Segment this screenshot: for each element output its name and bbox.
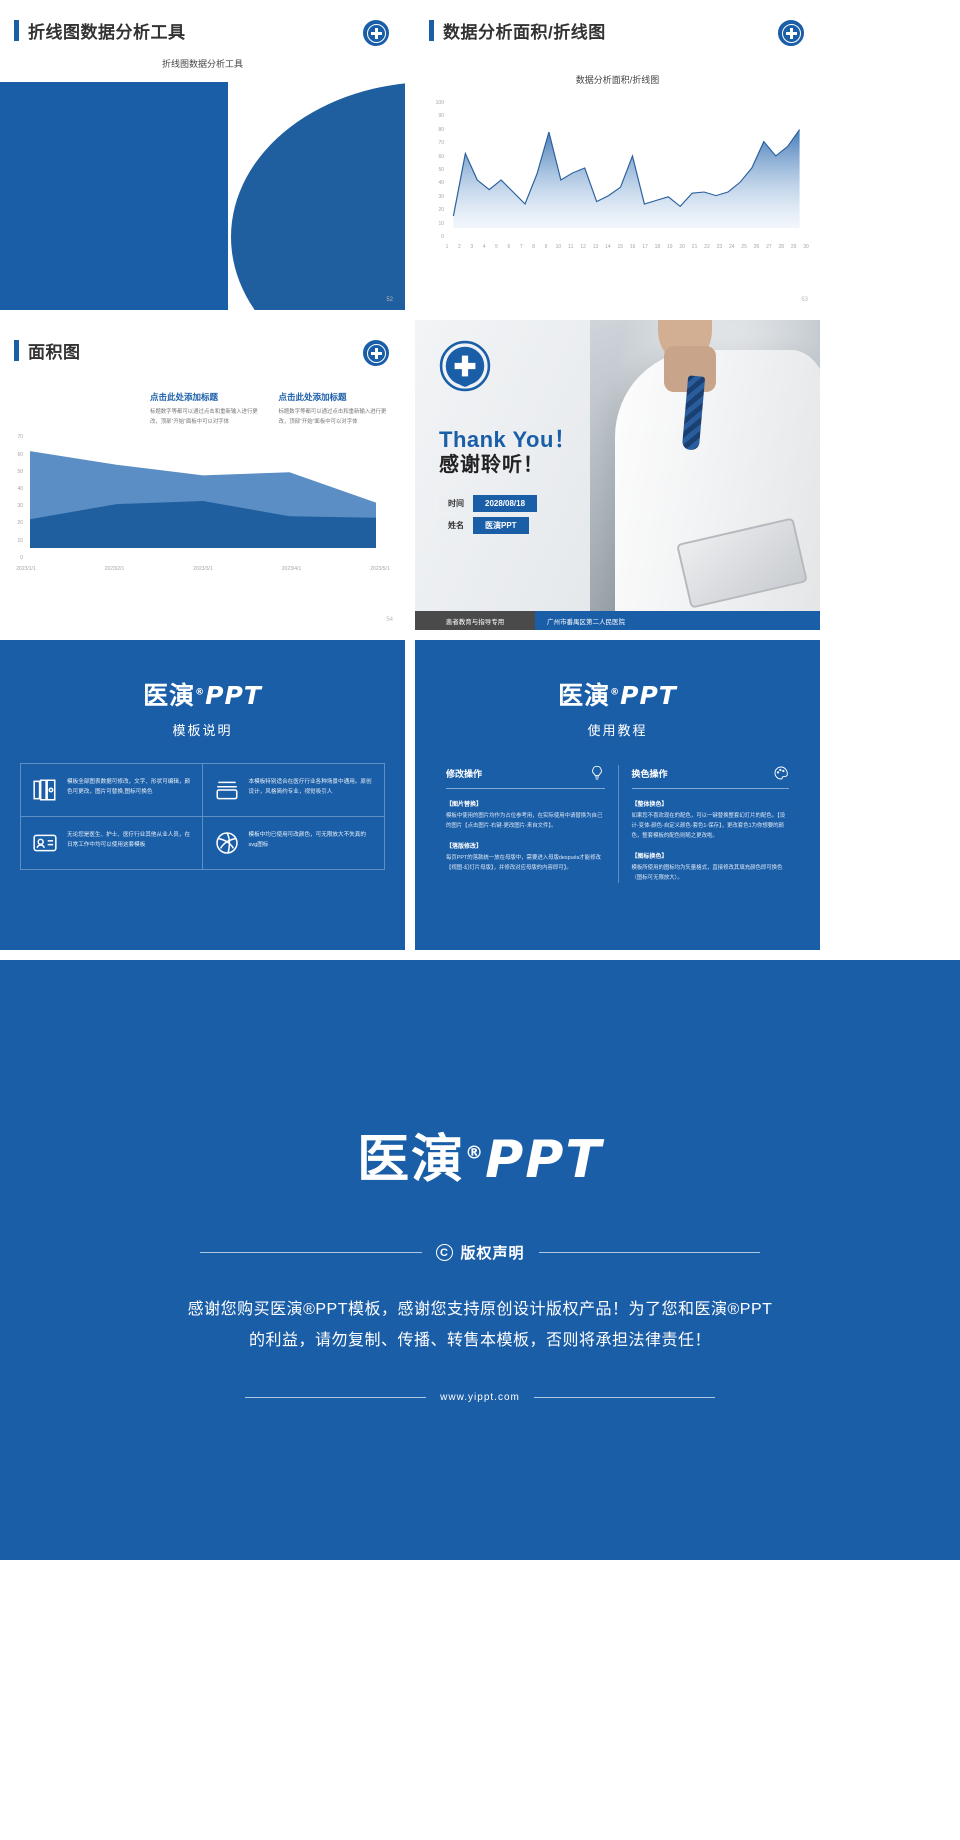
legend-dot-icon: [231, 82, 405, 310]
note-text: 无论您是医生、护士、医疗行业其他从业人员，在日常工作中均可以使用这套模板: [67, 830, 191, 856]
x-tick-label: 29: [791, 240, 797, 250]
slide-tutorial[interactable]: 医演®PPT 使用教程 修改操作 【图片替换】 模板中使用的图片均作为占位参考用…: [415, 640, 820, 950]
slide-header: 数据分析面积/折线图: [415, 0, 820, 43]
callout-heading: 点击此处添加标题: [279, 391, 392, 403]
block-title: 【落版修改】: [446, 841, 605, 850]
slide-thank-you[interactable]: Thank You！ 感谢聆听！ 时间 2028/08/18 姓名 医演PPT …: [415, 320, 820, 630]
area-line-svg: [447, 100, 806, 240]
y-tick-label: 70: [438, 140, 447, 146]
note-text: 本模板特别适合在医疗行业各种场景中通用。原创设计，风格简约专业，视觉吸引人: [249, 777, 374, 803]
x-tick-label: 26: [754, 240, 760, 250]
ppt-preview-page: 折线图数据分析工具 折线图数据分析工具 Series 1 Series 2: [0, 0, 960, 1560]
legend-dash-icon: [0, 82, 228, 310]
tutorial-block: 【图标换色】 模板所使用的图标均为矢量格式，直接修改其填充颜色即可换色（图标可无…: [632, 851, 790, 883]
block-title: 【图片替换】: [446, 799, 605, 808]
block-body: 模板所使用的图标均为矢量格式，直接修改其填充颜色即可换色（图标可无限放大）。: [632, 863, 790, 883]
x-tick-label: 4: [483, 240, 486, 250]
page-title: 面积图: [28, 338, 81, 363]
brand-logo: 医演®PPT: [415, 676, 820, 712]
x-tick-label: 5: [495, 240, 498, 250]
slide-row-1: 折线图数据分析工具 折线图数据分析工具 Series 1 Series 2: [0, 0, 960, 320]
y-tick-label: 90: [438, 113, 447, 119]
footer-department: 患者教育与指导专用: [415, 611, 535, 630]
x-tick-label: 9: [545, 240, 548, 250]
page-title: 数据分析面积/折线图: [443, 18, 606, 43]
x-tick-label: 15: [618, 240, 624, 250]
callout-body: 标题数字等都可以通过点击和重新输入进行更改，顶部“开始”面板中可以对字体: [150, 407, 263, 428]
x-tick-label: 21: [692, 240, 698, 250]
id-card-icon: [32, 830, 58, 856]
brand-ppt: PPT: [205, 681, 262, 710]
y-tick-label: 70: [17, 434, 26, 440]
bulb-icon: [589, 765, 605, 781]
field-value: 2028/08/18: [473, 495, 537, 512]
y-tick-label: 20: [17, 520, 26, 526]
brand-registered-mark: ®: [610, 688, 620, 698]
x-tick-label: 2: [458, 240, 461, 250]
field-label: 姓名: [439, 517, 473, 534]
page-title: 折线图数据分析工具: [28, 18, 186, 43]
brand-logo: 医演®PPT: [0, 676, 405, 712]
slide-page-number: 54: [386, 617, 393, 623]
y-tick-label: 80: [438, 127, 447, 133]
x-tick-label: 2023/4/1: [282, 562, 301, 572]
y-tick-label: 30: [438, 194, 447, 200]
x-tick-label: 28: [778, 240, 784, 250]
tutorial-columns: 修改操作 【图片替换】 模板中使用的图片均作为占位参考用，在实际使用中请替换为自…: [433, 765, 802, 883]
notes-grid: 模板全部图表数据可修改，文字、形状可编辑，颜色可更改，图片可替换,图标可换色 本…: [20, 763, 385, 870]
tutorial-block: 【整体换色】 如果您不喜欢现在的配色，可以一键替换整套幻灯片的配色。【设计-变体…: [632, 799, 790, 841]
block-title: 【整体换色】: [632, 799, 790, 808]
block-body: 模板中使用的图片均作为占位参考用，在实际使用中请替换为自己的图片【点击图片-右键…: [446, 811, 605, 831]
note-cell: 模板全部图表数据可修改，文字、形状可编辑，颜色可更改，图片可替换,图标可换色: [21, 764, 203, 817]
slide-header: 折线图数据分析工具: [0, 0, 405, 43]
slide-page-number: 52: [386, 297, 393, 303]
column-header: 修改操作: [446, 765, 605, 789]
brand-registered-mark: ®: [465, 1143, 485, 1164]
y-tick-label: 60: [17, 452, 26, 458]
divider-line: [539, 1252, 761, 1253]
callout-heading: 点击此处添加标题: [150, 391, 263, 403]
callout-body: 标题数字等都可以通过点击和重新输入进行更改，顶部“开始”面板中可以对字体: [279, 407, 392, 428]
x-tick-label: 13: [593, 240, 599, 250]
tutorial-block: 【落版修改】 每页PPT的落款统一放在母版中，需要进入母版después才能修改…: [446, 841, 605, 873]
x-tick-label: 2023/3/1: [193, 562, 212, 572]
slide-footer: 患者教育与指导专用 广州市番禺区第二人民医院: [415, 611, 820, 630]
x-tick-label: 16: [630, 240, 636, 250]
tutorial-block: 【图片替换】 模板中使用的图片均作为占位参考用，在实际使用中请替换为自己的图片【…: [446, 799, 605, 831]
y-tick-label: 20: [438, 207, 447, 213]
x-tick-label: 11: [568, 240, 573, 250]
title-accent-bar: [14, 20, 19, 41]
slide-copyright[interactable]: 医演®PPT C 版权声明 感谢您购买医演®PPT模板，感谢您支持原创设计版权产…: [0, 960, 960, 1560]
hospital-logo-icon: [363, 20, 389, 46]
brand-block: 医演®PPT 模板说明: [0, 640, 405, 739]
slide-area-chart[interactable]: 面积图 点击此处添加标题 标题数字等都可以通过点击和重新输入进行更改，顶部“开始…: [0, 320, 405, 630]
copyright-paragraph: 感谢您购买医演®PPT模板，感谢您支持原创设计版权产品！为了您和医演®PPT的利…: [180, 1295, 780, 1356]
slide-row-3: 医演®PPT 模板说明 模板全部图表数据可修改，文字、形状可编辑，颜色可更改，图…: [0, 640, 960, 960]
hospital-logo-icon: [439, 340, 491, 392]
footer-hospital: 广州市番禺区第二人民医院: [535, 611, 820, 630]
note-cell: 无论您是医生、护士、医疗行业其他从业人员，在日常工作中均可以使用这套模板: [21, 817, 203, 869]
x-tick-label: 12: [580, 240, 586, 250]
copyright-label: 版权声明: [461, 1242, 525, 1263]
note-text: 模板中均已使用可改颜色，可无限放大不失真的svg图标: [249, 830, 374, 856]
x-tick-label: 14: [605, 240, 611, 250]
x-tick-label: 30: [803, 240, 809, 250]
brand-block: 医演®PPT 使用教程: [415, 640, 820, 739]
callout-group: 点击此处添加标题 标题数字等都可以通过点击和重新输入进行更改，顶部“开始”面板中…: [150, 391, 391, 428]
x-tick-label: 19: [667, 240, 673, 250]
copyright-divider: C 版权声明: [200, 1242, 760, 1263]
divider-line: [200, 1252, 422, 1253]
column-title: 修改操作: [446, 767, 482, 780]
palette-icon: [773, 765, 789, 781]
chart-title: 折线图数据分析工具: [0, 57, 405, 70]
x-tick-label: 23: [717, 240, 723, 250]
x-tick-label: 17: [642, 240, 648, 250]
slide-line-chart[interactable]: 折线图数据分析工具 折线图数据分析工具 Series 1 Series 2: [0, 0, 405, 310]
slide-template-notes[interactable]: 医演®PPT 模板说明 模板全部图表数据可修改，文字、形状可编辑，颜色可更改，图…: [0, 640, 405, 950]
meta-fields: 时间 2028/08/18 姓名 医演PPT: [439, 495, 537, 539]
area-chart-plot: 706050403020100 2023/1/12023/2/12023/3/1…: [26, 434, 380, 562]
y-tick-label: 40: [17, 486, 26, 492]
chart-title: 数据分析面积/折线图: [415, 73, 820, 86]
title-accent-bar: [14, 340, 19, 361]
brand-name: 医演: [558, 681, 610, 710]
x-tick-label: 6: [508, 240, 511, 250]
x-tick-label: 2023/1/1: [16, 562, 35, 572]
y-tick-label: 60: [438, 154, 447, 160]
x-tick-label: 1: [446, 240, 449, 250]
block-body: 如果您不喜欢现在的配色，可以一键替换整套幻灯片的配色。【设计-变体-颜色-自定义…: [632, 811, 790, 841]
x-tick-label: 25: [741, 240, 747, 250]
url-divider: www.yippt.com: [245, 1392, 715, 1403]
thank-you-chinese: 感谢聆听！: [439, 448, 544, 477]
copyright-heading: C 版权声明: [436, 1242, 525, 1263]
y-tick-label: 50: [438, 167, 447, 173]
x-tick-label: 2023/2/1: [105, 562, 124, 572]
x-tick-label: 2023/5/1: [370, 562, 389, 572]
tutorial-column-recolor: 换色操作 【整体换色】 如果您不喜欢现在的配色，可以一键替换整套幻灯片的配色。【…: [618, 765, 803, 883]
copyright-mark-icon: C: [436, 1244, 453, 1261]
title-accent-bar: [429, 20, 434, 41]
hospital-logo-icon: [363, 340, 389, 366]
column-title: 换色操作: [632, 767, 668, 780]
y-tick-label: 30: [17, 503, 26, 509]
meta-field-name: 姓名 医演PPT: [439, 517, 537, 534]
brand-ppt: PPT: [620, 681, 677, 710]
x-tick-label: 22: [704, 240, 710, 250]
slide-header: 面积图: [0, 320, 405, 363]
area-line-plot: 1009080706050403020100 12345678910111213…: [447, 100, 806, 240]
x-tick-label: 7: [520, 240, 523, 250]
y-tick-label: 50: [17, 469, 26, 475]
area-chart-svg: [26, 434, 380, 562]
field-value: 医演PPT: [473, 517, 529, 534]
x-tick-label: 24: [729, 240, 735, 250]
x-tick-label: 20: [679, 240, 685, 250]
field-label: 时间: [439, 495, 473, 512]
slide-subtitle: 模板说明: [0, 720, 405, 739]
slide-row-2: 面积图 点击此处添加标题 标题数字等都可以通过点击和重新输入进行更改，顶部“开始…: [0, 320, 960, 640]
y-tick-label: 10: [17, 538, 26, 544]
y-tick-label: 40: [438, 180, 447, 186]
slide-page-number: 53: [801, 297, 808, 303]
column-header: 换色操作: [632, 765, 790, 789]
chart-legend: Series 1 Series 2: [0, 82, 405, 310]
y-tick-label: 10: [438, 221, 447, 227]
x-tick-label: 10: [556, 240, 562, 250]
book-icon: [32, 777, 58, 803]
slide-area-line-chart[interactable]: 数据分析面积/折线图 数据分析面积/折线图 100908070605040302…: [415, 0, 820, 310]
y-tick-label: 100: [436, 100, 447, 106]
website-url[interactable]: www.yippt.com: [440, 1392, 520, 1403]
x-tick-label: 8: [532, 240, 535, 250]
callout-1: 点击此处添加标题 标题数字等都可以通过点击和重新输入进行更改，顶部“开始”面板中…: [150, 391, 263, 428]
brand-name: 医演: [357, 1130, 465, 1190]
note-cell: 模板中均已使用可改颜色，可无限放大不失真的svg图标: [203, 817, 385, 869]
brand-registered-mark: ®: [195, 688, 205, 698]
basketball-icon: [214, 830, 240, 856]
slide-subtitle: 使用教程: [415, 720, 820, 739]
legend-item-series-2: Series 2: [0, 82, 405, 310]
card-icon: [214, 777, 240, 803]
brand-logo: 医演®PPT: [357, 1117, 603, 1192]
brand-name: 医演: [143, 681, 195, 710]
note-cell: 本模板特别适合在医疗行业各种场景中通用。原创设计，风格简约专业，视觉吸引人: [203, 764, 385, 817]
callout-2: 点击此处添加标题 标题数字等都可以通过点击和重新输入进行更改，顶部“开始”面板中…: [279, 391, 392, 428]
x-tick-label: 18: [655, 240, 661, 250]
hospital-logo-icon: [778, 20, 804, 46]
block-title: 【图标换色】: [632, 851, 790, 860]
meta-field-time: 时间 2028/08/18: [439, 495, 537, 512]
block-body: 每页PPT的落款统一放在母版中，需要进入母版después才能修改【视图-幻灯片…: [446, 853, 605, 873]
x-tick-label: 3: [470, 240, 473, 250]
note-text: 模板全部图表数据可修改，文字、形状可编辑，颜色可更改，图片可替换,图标可换色: [67, 777, 191, 803]
divider-line: [534, 1397, 715, 1398]
brand-ppt: PPT: [485, 1130, 603, 1190]
divider-line: [245, 1397, 426, 1398]
x-tick-label: 27: [766, 240, 772, 250]
tutorial-column-edit: 修改操作 【图片替换】 模板中使用的图片均作为占位参考用，在实际使用中请替换为自…: [433, 765, 618, 883]
